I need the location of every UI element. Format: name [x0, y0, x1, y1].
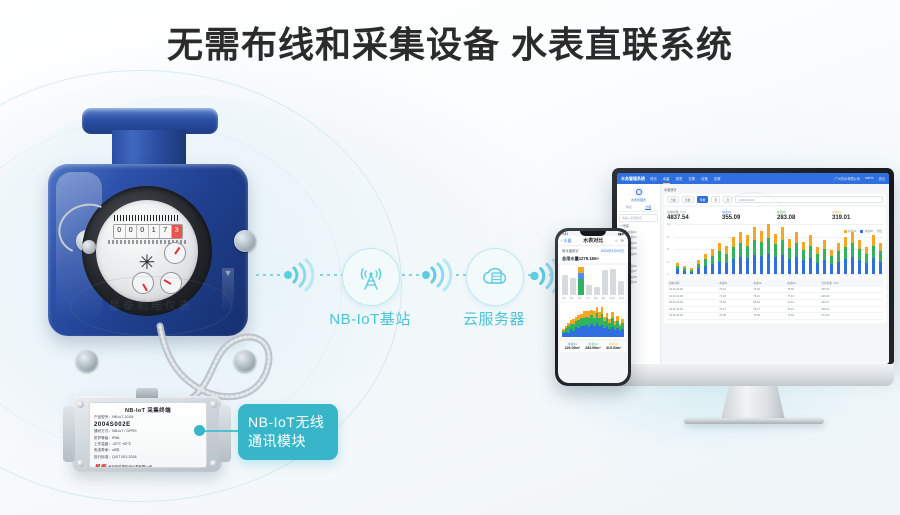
- signal-wave-icon: [280, 256, 318, 294]
- phone-date[interactable]: 2020年4月30日: [601, 248, 624, 253]
- tree-group[interactable]: 一号区: [620, 224, 658, 228]
- water-meter-graphic: ▼ 0 0 0 1 7 3 ✳ 星泰机电仪表: [30, 108, 266, 358]
- phone-legend: 水表01226.09m³水表02283.06m³水表03319.03m³: [560, 341, 626, 352]
- table-row: 04-30 22:0076.5080.0371.01290.07: [667, 299, 883, 306]
- filter-chip[interactable]: 月报: [682, 196, 694, 203]
- odometer-digit: 3: [172, 225, 183, 238]
- top-nav-item[interactable]: 报表: [676, 176, 683, 181]
- cell-tower-icon: [356, 262, 386, 292]
- chart-bar: [725, 246, 728, 274]
- table-column-header: 水表01: [717, 280, 751, 287]
- phone-bar-xlabel: 7月: [586, 296, 590, 300]
- phone-notch: [580, 231, 606, 236]
- phone-bar[interactable]: [578, 267, 584, 295]
- top-bar-action[interactable]: 退出: [879, 176, 885, 181]
- sidebar-tab[interactable]: 分组: [645, 205, 651, 210]
- filter-chip-group[interactable]: 日报月报年报年月: [667, 196, 732, 203]
- meter-sub-dial: [164, 242, 186, 264]
- sidebar-search-input[interactable]: 请输入名称搜索: [619, 214, 658, 222]
- illustration-canvas: 无需布线和采集设备 水表直联系统 ▼ 0 0 0 1 7 3: [0, 0, 900, 515]
- module-label-row: 执行标准：Q/XT 001-2018: [94, 455, 202, 460]
- phone-bar-xlabel: 8月: [594, 296, 598, 300]
- module-mount-ear: [219, 406, 231, 462]
- meter-bolt: [234, 350, 256, 372]
- meter-seal-lug: [82, 240, 96, 254]
- signal-chain: NB-IoT基站 云服务器: [256, 248, 556, 334]
- meter-bolt: [76, 350, 98, 372]
- chart-bar: [837, 243, 840, 274]
- x-tick-label: 29: [874, 275, 876, 277]
- phone-total-amount: 总用水量1279.18m³: [558, 254, 628, 263]
- battery-icon: ▮▮▰: [618, 232, 624, 236]
- stat-card: 总用水量（m³）4837.54: [667, 210, 718, 221]
- status-time: 9:41: [562, 232, 568, 236]
- y-tick-label: 60: [667, 249, 670, 251]
- callout-line-1: NB-IoT无线: [248, 413, 328, 432]
- chart-bar: [809, 235, 812, 274]
- table-cell: 04-30 21:00: [667, 293, 717, 300]
- top-nav-menu[interactable]: 首页水量报表告警设备设置: [650, 176, 721, 181]
- table-row: 04-30 00:0076.0876.0874.30274.30: [667, 313, 883, 320]
- meter-barcode: [114, 215, 180, 221]
- phone-bar[interactable]: [586, 285, 592, 295]
- module-label-row: 防护等级：IP68: [94, 436, 202, 441]
- table-column-header: 合计水量（m³）: [819, 280, 883, 287]
- module-screw: [210, 401, 217, 408]
- chart-bar: [704, 254, 707, 274]
- phone-bar-xlabel: 9月: [602, 296, 606, 300]
- module-label-row: 电池寿命：≥6年: [94, 448, 202, 453]
- table-cell: 71.01: [785, 299, 819, 306]
- phone-nav-icons[interactable]: ⌂ ⟳: [615, 238, 625, 243]
- x-tick-label: 13: [761, 275, 763, 277]
- table-cell: 77.40: [785, 293, 819, 300]
- table-column-header: 水表03: [785, 280, 819, 287]
- chart-bar: [816, 247, 819, 274]
- x-tick-label: 25: [846, 275, 848, 277]
- chart-bar: [774, 234, 777, 274]
- chart-bar: [879, 243, 882, 274]
- phone-page-title: 水表对比: [583, 237, 603, 244]
- chart-x-axis: 0105091317212529: [667, 275, 883, 277]
- filter-chip[interactable]: 年: [711, 196, 720, 203]
- chart-bar: [767, 224, 770, 274]
- chart-y-axis: 1209060300: [667, 224, 675, 274]
- callout-anchor-dot: [194, 425, 205, 436]
- date-range-input[interactable]: 2020-04-30: [735, 196, 883, 203]
- odometer-digit: 0: [137, 225, 149, 238]
- chart-bar: [802, 242, 805, 274]
- phone-bar[interactable]: [570, 278, 576, 295]
- module-company: 深圳市星泰机电仪表有限公司: [108, 464, 152, 468]
- chart-bar: [788, 239, 791, 274]
- cloud-server-icon: [479, 263, 511, 291]
- y-tick-label: 120: [667, 224, 671, 226]
- app-logo-title: 水务管理系统: [621, 176, 645, 182]
- chart-bar: [865, 247, 868, 274]
- table-header-row: 用水时间水表01水表02水表03合计水量（m³）: [667, 280, 883, 287]
- stat-card: 水表01355.09: [722, 210, 773, 221]
- filter-chip[interactable]: 年报: [697, 196, 709, 203]
- y-tick-label: 90: [667, 237, 670, 239]
- stat-card: 水表03319.01: [832, 210, 883, 221]
- phone-bar[interactable]: [618, 281, 624, 295]
- chart-bar: [732, 237, 735, 275]
- phone-bar[interactable]: [602, 270, 608, 295]
- phone-bar[interactable]: [610, 269, 616, 294]
- page-title: 无需布线和采集设备 水表直联系统: [0, 16, 900, 68]
- top-nav-item[interactable]: 首页: [650, 176, 657, 181]
- chart-bar: [795, 232, 798, 274]
- module-label-title: NB-IoT 采集终端: [90, 406, 206, 414]
- chart-bar: [690, 268, 693, 274]
- table-cell: 76.50: [717, 299, 751, 306]
- breadcrumb: 水量统计: [664, 187, 886, 192]
- meter-bolt: [234, 230, 256, 252]
- top-nav-item[interactable]: 告警: [688, 176, 695, 181]
- chart-bar: [676, 263, 679, 274]
- node-nbiot-base-station: [342, 248, 400, 306]
- data-table: 用水时间水表01水表02水表03合计水量（m³） 04-30 20:0075.4…: [667, 280, 883, 320]
- phone-monthly-chart: 4月5月6月7月8月9月10月11月: [560, 265, 626, 302]
- monitor-stand-base: [684, 418, 824, 424]
- table-column-header: 用水时间: [667, 280, 717, 287]
- sidebar-user: 水务管理员: [619, 187, 658, 202]
- table-column-header: 水表02: [751, 280, 785, 287]
- nbiot-module-callout: NB-IoT无线 通讯模块: [238, 404, 338, 460]
- stat-card: 水表02283.08: [777, 210, 828, 221]
- table-cell: 04-30 00:00: [667, 313, 717, 320]
- chart-bar: [718, 243, 721, 274]
- phone-bar-xlabel: 6月: [578, 296, 582, 300]
- chart-bar: [697, 260, 700, 274]
- x-tick-label: 05: [704, 275, 706, 277]
- top-bar-action[interactable]: 广州供水有限公司: [834, 176, 860, 181]
- phone-mini-bar: [621, 318, 624, 337]
- meter-impeller-icon: ✳: [136, 252, 158, 274]
- brand-logo: 星泰: [94, 462, 106, 468]
- table-cell: 229.40: [819, 293, 883, 300]
- meter-watermark: 星泰机电仪表: [70, 276, 232, 336]
- module-screw: [77, 401, 84, 408]
- table-cell: 79.27: [751, 306, 785, 313]
- phone-screen: 9:41 ▮▮▰ ‹ 水量 水表对比 ⌂ ⟳ 用水量统计 2020年4月30日 …: [558, 231, 628, 383]
- sidebar-user-name: 水务管理员: [631, 198, 646, 202]
- callout-line-2: 通讯模块: [248, 432, 328, 451]
- phone-detail-chart: [560, 303, 626, 339]
- monitor-stand-neck: [721, 386, 785, 420]
- chart-bar: [872, 235, 875, 274]
- top-bar-right[interactable]: 广州供水有限公司admin退出: [834, 176, 885, 181]
- module-cable-port: [136, 388, 158, 398]
- top-nav-item[interactable]: 设置: [714, 176, 721, 181]
- chart-bar: [753, 227, 756, 274]
- chart-bar: [844, 237, 847, 275]
- table-cell: 04-30 23:00: [667, 306, 717, 313]
- chart-bar: [858, 240, 861, 274]
- phone-bar-xlabel: 10月: [610, 296, 615, 300]
- module-label-row: 工作温度：-20℃~60℃: [94, 442, 202, 447]
- table-cell: 74.30: [785, 313, 819, 320]
- filter-bar[interactable]: 日报月报年报年月 2020-04-30: [664, 194, 886, 205]
- dotted-link: [320, 274, 344, 276]
- meter-odometer: 0 0 0 1 7 3: [113, 224, 183, 239]
- phone-sub-left: 用水量统计: [562, 248, 579, 253]
- smartphone-device: 9:41 ▮▮▰ ‹ 水量 水表对比 ⌂ ⟳ 用水量统计 2020年4月30日 …: [555, 228, 631, 386]
- callout-connector: [200, 430, 240, 432]
- module-label-row: 产品型号：NB-IoT-101M: [94, 415, 202, 420]
- phone-bar-group[interactable]: [562, 267, 624, 295]
- y-tick-label: 30: [667, 262, 670, 264]
- top-nav-item[interactable]: 水量: [663, 176, 670, 181]
- chart-bar: [851, 232, 854, 274]
- top-bar-left: 水务管理系统 首页水量报表告警设备设置: [621, 176, 721, 182]
- phone-bar-xaxis: 4月5月6月7月8月9月10月11月: [562, 296, 624, 300]
- module-label-row: 通讯方式：NB-IoT / GPRS: [94, 429, 202, 434]
- table-cell: 76.08: [717, 313, 751, 320]
- app-top-bar: 水务管理系统 首页水量报表告警设备设置 广州供水有限公司admin退出: [617, 173, 889, 184]
- app-body: 水务管理员 列表分组 请输入名称搜索 一号区水表01水表02水表03水表04水表…: [617, 184, 889, 364]
- sidebar-tabs[interactable]: 列表分组: [619, 205, 658, 212]
- back-button[interactable]: ‹ 水量: [561, 238, 571, 244]
- phone-nav-bar: ‹ 水量 水表对比 ⌂ ⟳: [558, 236, 628, 245]
- user-avatar-icon: [634, 187, 644, 197]
- table-cell: 209.22: [819, 306, 883, 313]
- app-main: 水务科技云平台 水量统计 日报月报年报年月 2020-04-30 总用水量（m³…: [661, 184, 889, 364]
- table-cell: 78.43: [751, 293, 785, 300]
- odometer-digit: 0: [126, 225, 138, 238]
- table-cell: 04-30 22:00: [667, 299, 717, 306]
- phone-mini-bar-group: [562, 307, 624, 337]
- module-label-footer: 星泰 深圳市星泰机电仪表有限公司: [94, 462, 202, 468]
- y-tick-label: 0: [667, 274, 668, 276]
- signal-wave-icon: [418, 256, 456, 294]
- sidebar-tab[interactable]: 列表: [626, 205, 632, 210]
- phone-bar-xlabel: 4月: [562, 296, 566, 300]
- table-cell: 80.03: [751, 299, 785, 306]
- top-bar-action[interactable]: admin: [865, 176, 874, 181]
- filter-chip[interactable]: 日报: [667, 196, 679, 203]
- x-tick-label: 21: [817, 275, 819, 277]
- chart-bar: [823, 240, 826, 274]
- phone-bar[interactable]: [562, 275, 568, 295]
- chart-bars: [676, 224, 882, 274]
- chart-bar: [739, 232, 742, 274]
- module-screw: [210, 460, 217, 467]
- chart-bar: [760, 231, 763, 274]
- dotted-link: [256, 274, 282, 276]
- phone-subheader: 用水量统计 2020年4月30日: [558, 245, 628, 254]
- water-usage-bar-chart: 1209060300: [667, 224, 883, 274]
- table-cell: 79.27: [717, 306, 751, 313]
- desktop-monitor-device: 水务管理系统 首页水量报表告警设备设置 广州供水有限公司admin退出 水务管理…: [612, 168, 894, 418]
- chart-bar: [683, 265, 686, 274]
- x-tick-label: 01: [676, 275, 678, 277]
- top-nav-item[interactable]: 设备: [701, 176, 708, 181]
- stat-group: 总用水量（m³）4837.54水表01355.09水表02283.08水表033…: [667, 210, 883, 221]
- chart-bar: [830, 250, 833, 274]
- monitor-screen: 水务管理系统 首页水量报表告警设备设置 广州供水有限公司admin退出 水务管理…: [617, 173, 889, 364]
- phone-bar-xlabel: 5月: [570, 296, 574, 300]
- stats-chart-panel: 总用水量（m³）4837.54水表01355.09水表02283.08水表033…: [664, 207, 886, 323]
- table-cell: 76.20: [785, 306, 819, 313]
- node-cloud-server: [466, 248, 524, 306]
- x-tick-label: 09: [733, 275, 735, 277]
- table-cell: 290.07: [819, 299, 883, 306]
- monitor-frame: 水务管理系统 首页水量报表告警设备设置 广州供水有限公司admin退出 水务管理…: [612, 168, 894, 364]
- module-mount-ear: [63, 406, 75, 462]
- table-cell: 76.08: [751, 313, 785, 320]
- module-screw: [77, 460, 84, 467]
- odometer-digit: 7: [160, 225, 172, 238]
- phone-legend-item: 水表02283.06m³: [585, 342, 600, 350]
- table-cell: 74.30: [717, 293, 751, 300]
- phone-bar-xlabel: 11月: [619, 296, 624, 300]
- filter-chip[interactable]: 月: [723, 196, 732, 203]
- phone-bar[interactable]: [594, 287, 600, 295]
- table-row: 04-30 23:0079.2779.2776.20209.22: [667, 306, 883, 313]
- table-row: 04-30 21:0074.3078.4377.40229.40: [667, 293, 883, 300]
- odometer-digit: 1: [149, 225, 161, 238]
- chart-bar: [781, 227, 784, 274]
- chart-bar: [746, 235, 749, 274]
- node-label-base-station: NB-IoT基站: [310, 308, 430, 329]
- table-cell: 274.30: [819, 313, 883, 320]
- module-label-plate: NB-IoT 采集终端 产品型号：NB-IoT-101M 2004S002E 通…: [89, 402, 207, 468]
- monitor-chin: [612, 364, 894, 386]
- phone-legend-item: 水表01226.09m³: [565, 342, 580, 350]
- chart-bar: [711, 249, 714, 274]
- node-label-cloud-server: 云服务器: [434, 308, 554, 329]
- x-tick-label: 17: [789, 275, 791, 277]
- module-serial: 2004S002E: [94, 422, 202, 428]
- phone-legend-item: 水表03319.03m³: [606, 342, 621, 350]
